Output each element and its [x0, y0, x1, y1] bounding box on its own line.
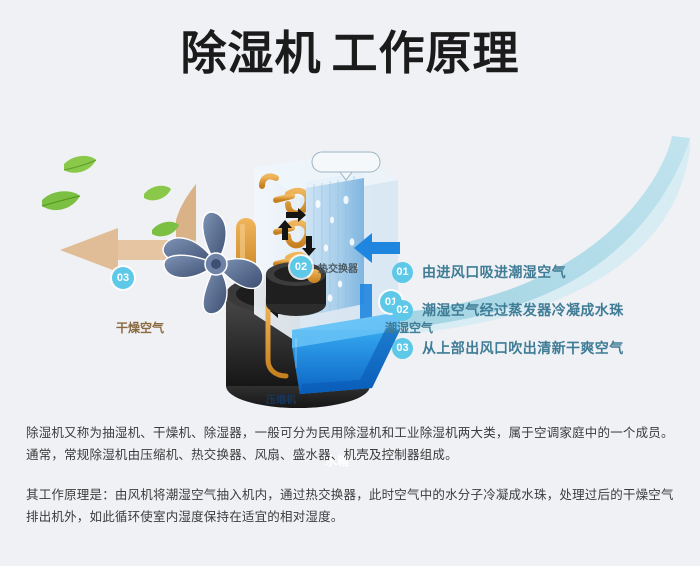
- diagram-badge-outlet: 03: [112, 267, 134, 289]
- legend-item-02: 02 潮湿空气经过蒸发器冷凝成水珠: [392, 291, 692, 329]
- legend-label-01: 由进风口吸进潮湿空气: [422, 262, 566, 282]
- legend-badge-02: 02: [392, 300, 413, 321]
- title-part-product: 除湿机: [181, 27, 322, 79]
- legend-label-02: 潮湿空气经过蒸发器冷凝成水珠: [422, 300, 624, 320]
- legend-list: 01 由进风口吸进潮湿空气 02 潮湿空气经过蒸发器冷凝成水珠 03 从上部出风…: [392, 253, 692, 367]
- description-block: 除湿机又称为抽湿机、干燥机、除湿器，一般可分为民用除湿机和工业除湿机两大类，属于…: [26, 422, 676, 528]
- legend-label-03: 从上部出风口吹出清新干爽空气: [422, 338, 624, 358]
- page-title: 除湿机工作原理: [0, 28, 700, 79]
- leaf-icon: [152, 222, 179, 237]
- leaf-icon: [42, 191, 80, 210]
- leaf-icon: [144, 186, 171, 201]
- description-paragraph-2: 其工作原理是：由风机将潮湿空气抽入机内，通过热交换器，此时空气中的水分子冷凝成水…: [26, 484, 676, 528]
- description-paragraph-1: 除湿机又称为抽湿机、干燥机、除湿器，一般可分为民用除湿机和工业除湿机两大类，属于…: [26, 422, 676, 466]
- leaf-icon: [64, 156, 96, 173]
- title-part-principle: 工作原理: [332, 27, 520, 79]
- legend-badge-03: 03: [392, 338, 413, 359]
- legend-item-01: 01 由进风口吸进潮湿空气: [392, 253, 692, 291]
- legend-badge-01: 01: [392, 262, 413, 283]
- legend-item-03: 03 从上部出风口吹出清新干爽空气: [392, 329, 692, 367]
- diagram-badge-exchanger: 02: [290, 256, 312, 278]
